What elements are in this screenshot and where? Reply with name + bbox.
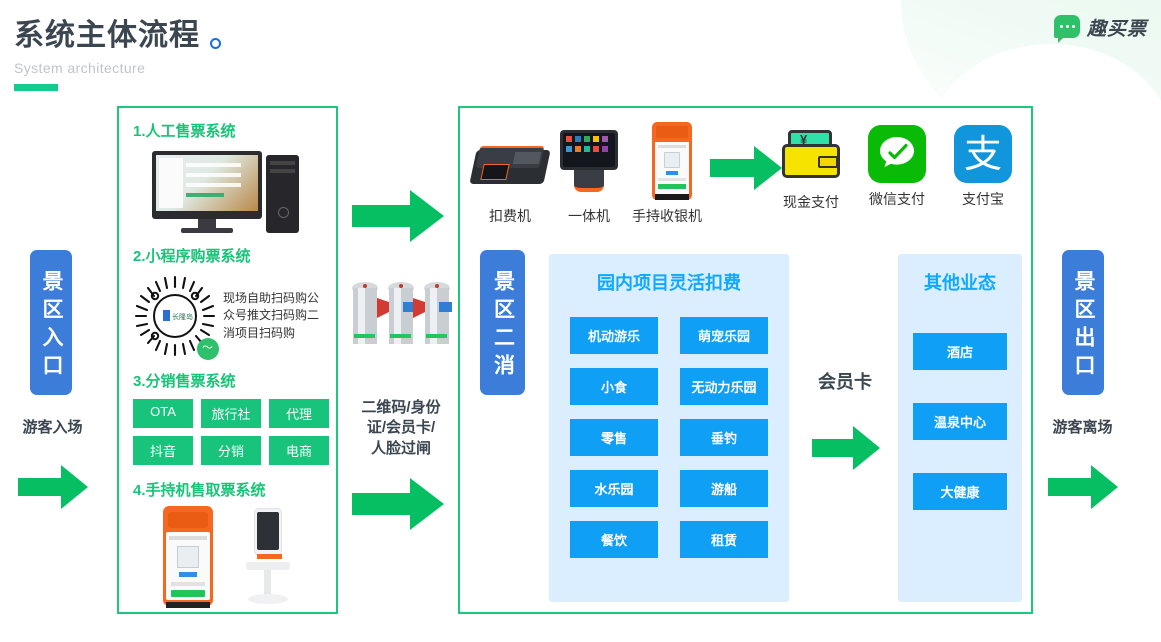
entrance-caption: 游客入场 xyxy=(5,418,100,438)
park-project-chip[interactable]: 零售 xyxy=(570,419,658,456)
other-business-list: 酒店 温泉中心 大健康 xyxy=(898,295,1022,510)
park-projects-panel: 园内项目灵活扣费 机动游乐 萌宠乐园 小食 无动力乐园 零售 垂钓 水乐园 游船… xyxy=(549,254,789,602)
distribution-tag[interactable]: 抖音 xyxy=(133,436,193,465)
device-item-handheld-cashier[interactable]: 手持收银机 xyxy=(626,120,708,235)
distribution-tag[interactable]: 代理 xyxy=(269,399,329,428)
section-title-handheld-ticketing: 4.手持机售取票系统 xyxy=(133,479,336,500)
other-business-chip[interactable]: 酒店 xyxy=(913,333,1007,370)
flow-arrow-to-gate-icon xyxy=(352,190,444,242)
park-project-chip[interactable]: 游船 xyxy=(680,470,768,507)
handheld-devices-illustration xyxy=(133,504,323,609)
svg-text:支: 支 xyxy=(964,134,1002,176)
miniprogram-qr-row: 长隆岛 〜 现场自助扫码购公众号推文扫码购二消项目扫码购 xyxy=(133,274,336,358)
miniprogram-description: 现场自助扫码购公众号推文扫码购二消项目扫码购 xyxy=(223,290,319,342)
title-dot-icon xyxy=(210,38,221,49)
park-project-chip[interactable]: 无动力乐园 xyxy=(680,368,768,405)
entrance-box: 景区入口 xyxy=(30,250,72,395)
title-underline xyxy=(14,84,58,91)
section-title-miniprogram-ticketing: 2.小程序购票系统 xyxy=(133,245,336,266)
distribution-tag-row-2: 抖音 分销 电商 xyxy=(133,436,336,465)
park-project-chip[interactable]: 机动游乐 xyxy=(570,317,658,354)
qr-code-icon: 长隆岛 〜 xyxy=(133,274,217,358)
wechat-pay-icon xyxy=(868,125,926,183)
distribution-tag[interactable]: 电商 xyxy=(269,436,329,465)
title-row: 系统主体流程 xyxy=(14,10,221,54)
ticket-system-panel: 1.人工售票系统 2.小程序购票系统 xyxy=(117,106,338,614)
device-label: 扣费机 xyxy=(468,206,552,226)
park-project-chip[interactable]: 小食 xyxy=(570,368,658,405)
turnstile-illustration xyxy=(345,272,457,362)
speech-bubble-icon xyxy=(1054,15,1080,41)
distribution-tag[interactable]: 分销 xyxy=(201,436,261,465)
page-title: 系统主体流程 xyxy=(14,10,200,54)
payment-item-cash[interactable]: ¥ 现金支付 xyxy=(780,120,842,235)
desktop-computer-icon xyxy=(148,147,308,235)
payment-label: 支付宝 xyxy=(952,189,1014,209)
other-business-title: 其他业态 xyxy=(898,254,1022,295)
park-projects-grid: 机动游乐 萌宠乐园 小食 无动力乐园 零售 垂钓 水乐园 游船 餐饮 租赁 xyxy=(549,295,789,558)
payment-label: 现金支付 xyxy=(780,192,842,212)
entrance-box-label: 景区入口 xyxy=(36,270,66,382)
section-title-manual-ticketing: 1.人工售票系统 xyxy=(133,120,336,141)
gate-caption: 二维码/身份 证/会员卡/ 人脸过闸 xyxy=(348,398,454,459)
second-consume-box-label: 景区二消 xyxy=(488,270,518,382)
consumption-panel: 扣费机 xyxy=(458,106,1033,614)
park-projects-title: 园内项目灵活扣费 xyxy=(549,254,789,295)
brand-logo: 趣买票 xyxy=(1054,14,1147,41)
payment-item-wechat[interactable]: 微信支付 xyxy=(866,120,928,235)
handheld-pos-icon xyxy=(163,506,213,606)
other-business-chip[interactable]: 大健康 xyxy=(913,473,1007,510)
park-project-chip[interactable]: 水乐园 xyxy=(570,470,658,507)
member-card-label: 会员卡 xyxy=(800,370,890,394)
page-subtitle: System architecture xyxy=(14,60,221,76)
section-title-distribution-ticketing: 3.分销售票系统 xyxy=(133,370,336,391)
self-service-kiosk-icon xyxy=(238,508,298,606)
distribution-tag-row-1: OTA 旅行社 代理 xyxy=(133,399,336,428)
payment-row: ¥ 现金支付 微信支付 支 支付宝 xyxy=(780,120,1030,235)
flow-arrow-member-to-business-icon xyxy=(812,426,880,470)
page-header: 系统主体流程 System architecture xyxy=(14,10,221,91)
device-item-all-in-one[interactable]: 一体机 xyxy=(552,120,626,235)
alipay-icon: 支 xyxy=(954,125,1012,183)
pos-terminal-icon xyxy=(468,120,552,200)
exit-arrow-icon xyxy=(1048,465,1118,509)
other-business-panel: 其他业态 酒店 温泉中心 大健康 xyxy=(898,254,1022,602)
svg-text:长隆岛: 长隆岛 xyxy=(172,312,193,321)
distribution-tag[interactable]: OTA xyxy=(133,399,193,428)
park-project-chip[interactable]: 萌宠乐园 xyxy=(680,317,768,354)
device-label: 一体机 xyxy=(552,206,626,226)
handheld-cashier-icon xyxy=(626,120,708,200)
flow-arrow-gate-to-consume-icon xyxy=(352,478,444,530)
flow-arrow-device-to-payment-icon xyxy=(710,146,782,190)
cash-wallet-icon: ¥ xyxy=(780,124,842,186)
other-business-chip[interactable]: 温泉中心 xyxy=(913,403,1007,440)
all-in-one-machine-icon xyxy=(552,120,626,200)
device-item-deduction-machine[interactable]: 扣费机 xyxy=(468,120,552,235)
park-project-chip[interactable]: 租赁 xyxy=(680,521,768,558)
exit-box: 景区出口 xyxy=(1062,250,1104,395)
entrance-arrow-icon xyxy=(18,465,88,509)
distribution-tag[interactable]: 旅行社 xyxy=(201,399,261,428)
device-label: 手持收银机 xyxy=(626,206,708,226)
payment-label: 微信支付 xyxy=(866,189,928,209)
second-consume-box: 景区二消 xyxy=(480,250,525,395)
park-project-chip[interactable]: 餐饮 xyxy=(570,521,658,558)
payment-item-alipay[interactable]: 支 支付宝 xyxy=(952,120,1014,235)
device-row: 扣费机 xyxy=(468,120,708,235)
exit-box-label: 景区出口 xyxy=(1068,270,1098,382)
brand-name: 趣买票 xyxy=(1087,14,1147,41)
park-project-chip[interactable]: 垂钓 xyxy=(680,419,768,456)
exit-caption: 游客离场 xyxy=(1035,418,1130,438)
